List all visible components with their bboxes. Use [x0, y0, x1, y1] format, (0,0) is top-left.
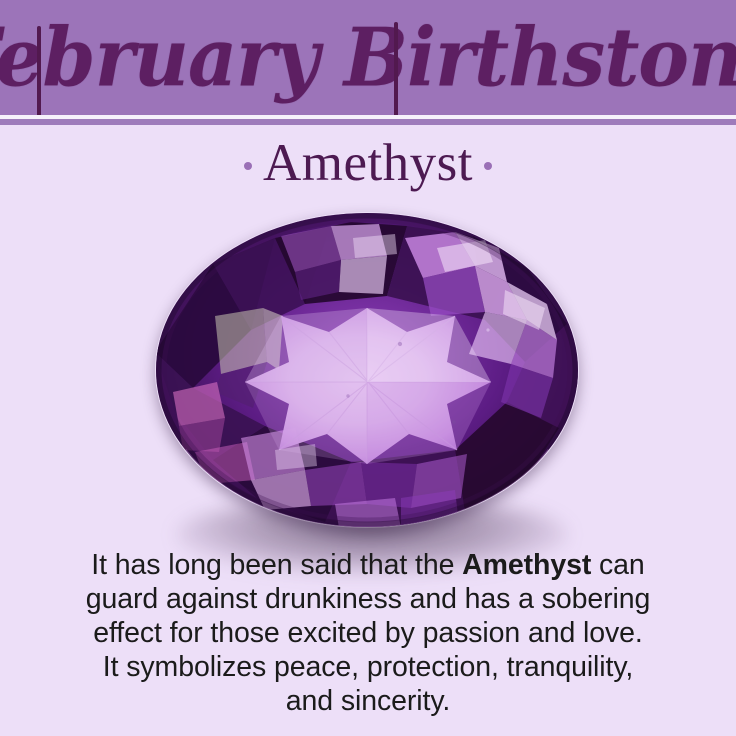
gemstone-stage	[0, 196, 736, 546]
page-title: February Birthstone	[0, 0, 736, 115]
calligraphic-f-descender	[37, 26, 41, 115]
description-line-5: and sincerity.	[28, 684, 708, 718]
description-line-1-before: It has long been said that the	[91, 549, 462, 581]
calligraphic-b-descender	[394, 22, 398, 115]
accent-word-amethyst: Amethyst	[462, 549, 591, 581]
subtitle-dot-right-icon	[484, 162, 492, 170]
header-band: February Birthstone	[0, 0, 736, 115]
description-line-4: It symbolizes peace, protection, tranqui…	[28, 650, 708, 684]
description-line-1: It has long been said that the Amethyst …	[28, 548, 708, 582]
description-line-1-after: can	[591, 549, 644, 581]
description-line-3: effect for those excited by passion and …	[28, 616, 708, 650]
divider-purple	[0, 119, 736, 125]
subtitle: Amethyst	[0, 134, 736, 192]
amethyst-gemstone-image	[155, 212, 579, 528]
subtitle-dot-left-icon	[244, 162, 252, 170]
birthstone-poster: February Birthstone Amethyst	[0, 0, 736, 736]
description-text: It has long been said that the Amethyst …	[28, 548, 708, 718]
description-line-2: guard against drunkiness and has a sober…	[28, 582, 708, 616]
page-title-text: February Birthstone	[0, 17, 736, 98]
subtitle-text: Amethyst	[263, 137, 473, 190]
